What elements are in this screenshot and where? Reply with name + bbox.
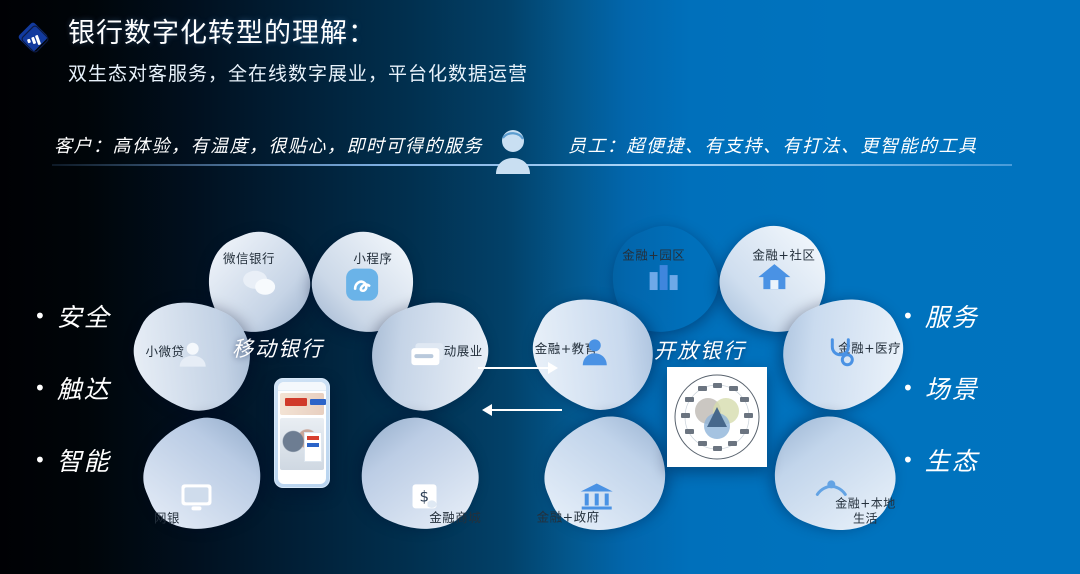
phone-screen [278,382,326,484]
page-title: 银行数字化转型的理解： [68,16,528,51]
petal-label: 金融+园区 [606,247,702,263]
chat-bubbles-icon [240,267,278,301]
petal-label: 金融+社区 [736,247,832,263]
diamond-chart-logo-icon [14,18,54,58]
banner-blue-tag [310,399,326,405]
ecosystem-venn-circle-diagram [667,367,767,467]
government-bank-icon [579,483,613,515]
bullet-label: 生态 [925,442,979,478]
person-avatar-icon [490,126,536,174]
bullet-label: 触达 [57,370,111,406]
petal-label: 微信银行 [203,251,295,267]
petal-internet-banking[interactable]: 网银 [128,403,277,548]
right-bullet-list: • 服务 • 场景 • 生态 [902,286,1052,502]
petal-financial-mall[interactable]: 金融商城 $ [346,403,495,548]
wechat-miniprogram-icon [344,267,380,305]
page-subtitle: 双生态对客服务，全在线数字展业，平台化数据运营 [68,59,528,86]
bullet-dot: • [34,450,48,470]
bullet-label: 智能 [57,442,111,478]
phone-banner [280,393,324,415]
shopping-dollar-icon: $ [410,482,442,516]
graduate-person-icon [578,337,610,369]
open-bank-center-title: 开放银行 [654,335,746,365]
petal-finance-local-life[interactable]: 金融+本地 生活 [758,401,911,549]
bank-card-icon [410,340,448,372]
buildings-icon [646,262,680,294]
bullet-dot: • [34,378,48,398]
stethoscope-icon [826,337,856,371]
bullet-dot: • [34,306,48,326]
bullet-label: 场景 [925,370,979,406]
local-life-hands-icon [814,478,848,508]
audience-band: 客户：高体验，有温度，很贴心，即时可得的服务 员工：超便捷、有支持、有打法、更智… [0,128,1080,176]
phone-status-bar [278,382,326,391]
banner-red-tag [285,398,307,406]
slide-canvas: 银行数字化转型的理解： 双生态对客服务，全在线数字展业，平台化数据运营 客户：高… [0,0,1080,574]
bullet-label: 服务 [925,298,979,334]
title-block: 银行数字化转型的理解： 双生态对客服务，全在线数字展业，平台化数据运营 [68,16,528,86]
petal-shape [758,401,911,549]
petal-shape [346,403,495,548]
desktop-monitor-icon [178,482,214,516]
employee-value-text: 员工：超便捷、有支持、有打法、更智能的工具 [568,132,978,158]
person-loan-icon [175,341,209,371]
mobile-bank-center-title: 移动银行 [232,333,324,363]
petal-finance-government[interactable]: 金融+政府 [528,401,681,549]
bullet-scenario: • 场景 [902,358,1052,418]
bidirectional-arrows [474,358,566,420]
mobile-phone-app-mockup [274,378,330,488]
phone-promo-card [304,432,322,462]
house-icon [758,262,792,294]
petal-shape [528,401,681,549]
petal-label: 小程序 [327,251,419,267]
bullet-service: • 服务 [902,286,1052,346]
bullet-ecosystem: • 生态 [902,430,1052,490]
bullet-label: 安全 [57,298,111,334]
customer-value-text: 客户：高体验，有温度，很贴心，即时可得的服务 [54,132,483,158]
